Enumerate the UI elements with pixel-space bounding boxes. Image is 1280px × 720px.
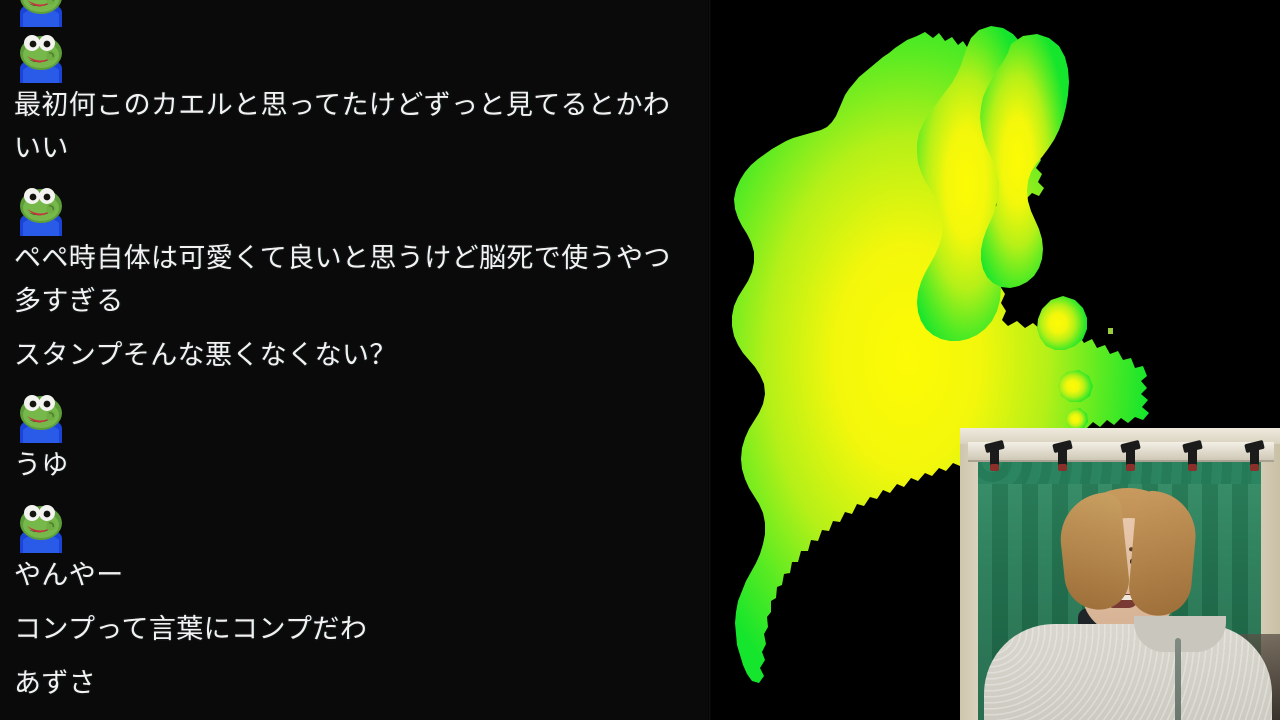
pepe-hands-emote-icon [14,499,68,553]
chat-message-text: コンプって言葉にコンプだわ [12,608,698,651]
chat-message[interactable]: ペペ時自体は可愛くて良いと思うけど脳死で使うやつ多すぎる [0,237,710,323]
curtain-clip-icon [990,448,999,470]
chat-message-text: スタンプそんな悪くなくない？ [12,334,698,377]
stream-layout-root: 最初何このカエルと思ってたけどずっと見てるとかわいい [0,0,1280,720]
streamer-figure [1038,488,1218,720]
streamer-webcam-overlay[interactable] [960,428,1280,720]
pepe-hands-emote-icon [14,182,68,236]
chat-spacer [0,651,710,662]
pepe-hands-emote-icon [14,29,68,83]
chat-message[interactable] [0,28,710,84]
chat-message-text: あずさ [12,662,698,705]
pepe-hands-emote-icon [14,389,68,443]
chat-spacer [0,487,710,498]
chat-emote-row [12,388,698,444]
chat-message-text: 最初何このカエルと思ってたけどずっと見てるとかわいい [12,84,698,170]
chat-message-text: ペペ時自体は可愛くて良いと思うけど脳死で使うやつ多すぎる [12,237,698,323]
chat-message[interactable]: あずさ [0,662,710,705]
chat-message[interactable] [0,388,710,444]
chat-message[interactable]: うゆ [0,444,710,487]
chat-emote-row [12,498,698,554]
hair-bang-left [1056,491,1132,613]
chat-pane[interactable]: 最初何このカエルと思ってたけどずっと見てるとかわいい [0,0,710,720]
chat-spacer [0,323,710,334]
chat-message-text: うゆ [12,444,698,487]
chat-spacer [0,597,710,608]
chat-spacer [0,170,710,181]
chat-emote-row [12,181,698,237]
jacket-zipper [1175,638,1181,720]
chat-message[interactable]: 最初何このカエルと思ってたけどずっと見てるとかわいい [0,84,710,170]
chat-message[interactable]: コンプって言葉にコンプだわ [0,608,710,651]
offshore-island-dot-icon [1108,328,1113,334]
chat-message-list[interactable]: 最初何このカエルと思ってたけどずっと見てるとかわいい [0,0,710,705]
curtain-clip-icon [1058,448,1067,470]
chat-message[interactable]: やんやー [0,554,710,597]
chat-message-text: やんやー [12,554,698,597]
chat-emote-row [12,28,698,84]
chat-spacer [0,377,710,388]
chat-emote-row [12,0,698,28]
chat-message[interactable] [0,0,710,28]
curtain-clip-icon [1126,448,1135,470]
curtain-clip-icon [1188,448,1197,470]
chat-message[interactable] [0,181,710,237]
fleece-jacket [984,624,1272,720]
chat-message[interactable]: スタンプそんな悪くなくない？ [0,334,710,377]
hair-bang-right [1127,490,1200,619]
pepe-hands-emote-icon [14,0,68,27]
chat-message[interactable] [0,498,710,554]
curtain-clip-icon [1250,448,1259,470]
